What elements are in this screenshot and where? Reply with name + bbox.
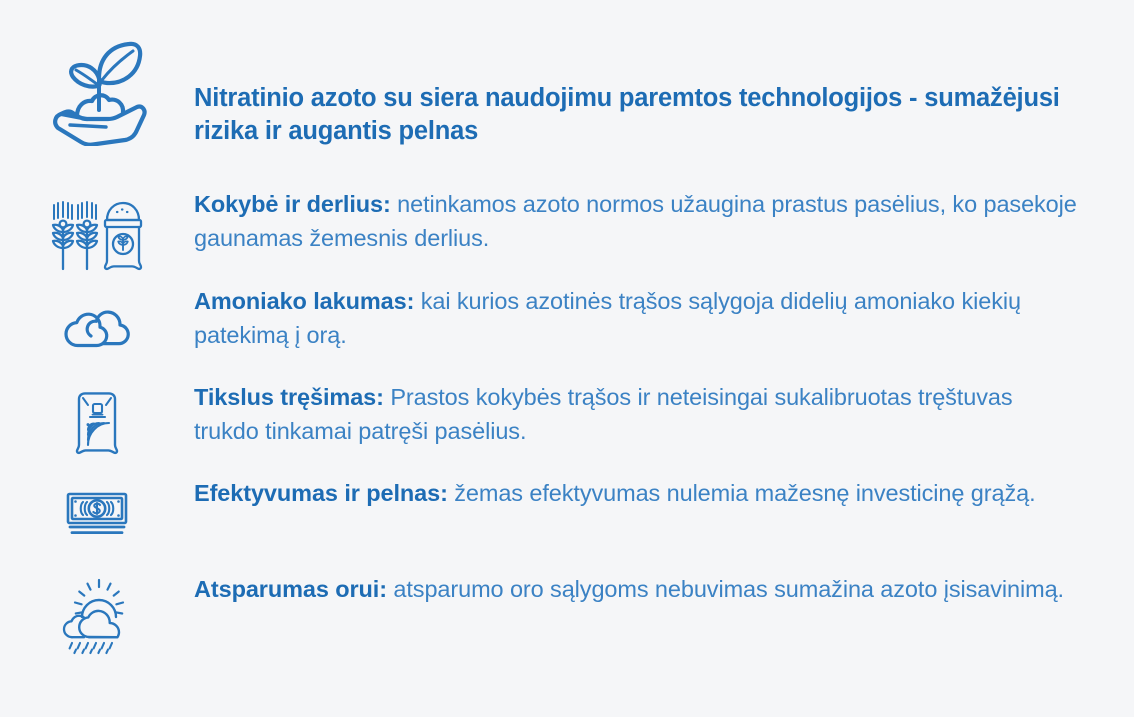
list-item-lead: Efektyvumas ir pelnas: (194, 480, 448, 506)
list-item-lead: Amoniako lakumas: (194, 288, 414, 314)
list-item: Tikslus tręšimas: Prastos kokybės trąšos… (0, 379, 1134, 475)
list-item-text-cell: Tikslus tręšimas: Prastos kokybės trąšos… (194, 379, 1134, 448)
list-item-body: atsparumo oro sąlygoms nebuvimas sumažin… (387, 576, 1064, 602)
header-row: Nitratinio azoto su siera naudojimu pare… (0, 24, 1134, 164)
list-item-lead: Tikslus tręšimas: (194, 384, 384, 410)
list-item: Amoniako lakumas: kai kurios azotinės tr… (0, 283, 1134, 379)
list-item: Efektyvumas ir pelnas: žemas efektyvumas… (0, 475, 1134, 571)
list-item-text: Amoniako lakumas: kai kurios azotinės tr… (194, 284, 1079, 352)
list-item-icon-cell (0, 571, 194, 655)
banknote-money-icon (65, 491, 129, 537)
title-cell: Nitratinio azoto su siera naudojimu pare… (194, 24, 1134, 148)
list-item: Atsparumas orui: atsparumo oro sąlygoms … (0, 571, 1134, 667)
list-item-icon-cell (0, 475, 194, 537)
list-item-text-cell: Atsparumas orui: atsparumo oro sąlygoms … (194, 571, 1119, 606)
list-item-text-cell: Kokybė ir derlius: netinkamos azoto norm… (194, 186, 1134, 255)
header-icon-cell (0, 24, 194, 146)
sun-clouds-rain-icon (58, 575, 136, 655)
list-item-icon-cell (0, 186, 194, 272)
list-item-body: žemas efektyvumas nulemia mažesnę invest… (448, 480, 1036, 506)
list-item-text-cell: Amoniako lakumas: kai kurios azotinės tr… (194, 283, 1134, 352)
infographic-root: Nitratinio azoto su siera naudojimu pare… (0, 0, 1134, 717)
list-item-lead: Kokybė ir derlius: (194, 191, 391, 217)
list-item-text: Kokybė ir derlius: netinkamos azoto norm… (194, 187, 1079, 255)
fertilizer-spreading-sack-icon (69, 390, 125, 456)
page-title: Nitratinio azoto su siera naudojimu pare… (194, 82, 1074, 148)
feature-list: Kokybė ir derlius: netinkamos azoto norm… (0, 186, 1134, 667)
list-item: Kokybė ir derlius: netinkamos azoto norm… (0, 186, 1134, 283)
list-item-lead: Atsparumas orui: (194, 576, 387, 602)
list-item-text: Atsparumas orui: atsparumo oro sąlygoms … (194, 572, 1064, 606)
list-item-icon-cell (0, 283, 194, 352)
clouds-icon (57, 300, 137, 352)
list-item-text: Efektyvumas ir pelnas: žemas efektyvumas… (194, 476, 1036, 510)
list-item-text: Tikslus tręšimas: Prastos kokybės trąšos… (194, 380, 1079, 448)
list-item-text-cell: Efektyvumas ir pelnas: žemas efektyvumas… (194, 475, 1091, 510)
wheat-and-fertilizer-sack-icon (49, 198, 145, 272)
hand-holding-sprout-icon (43, 30, 151, 146)
list-item-icon-cell (0, 379, 194, 456)
